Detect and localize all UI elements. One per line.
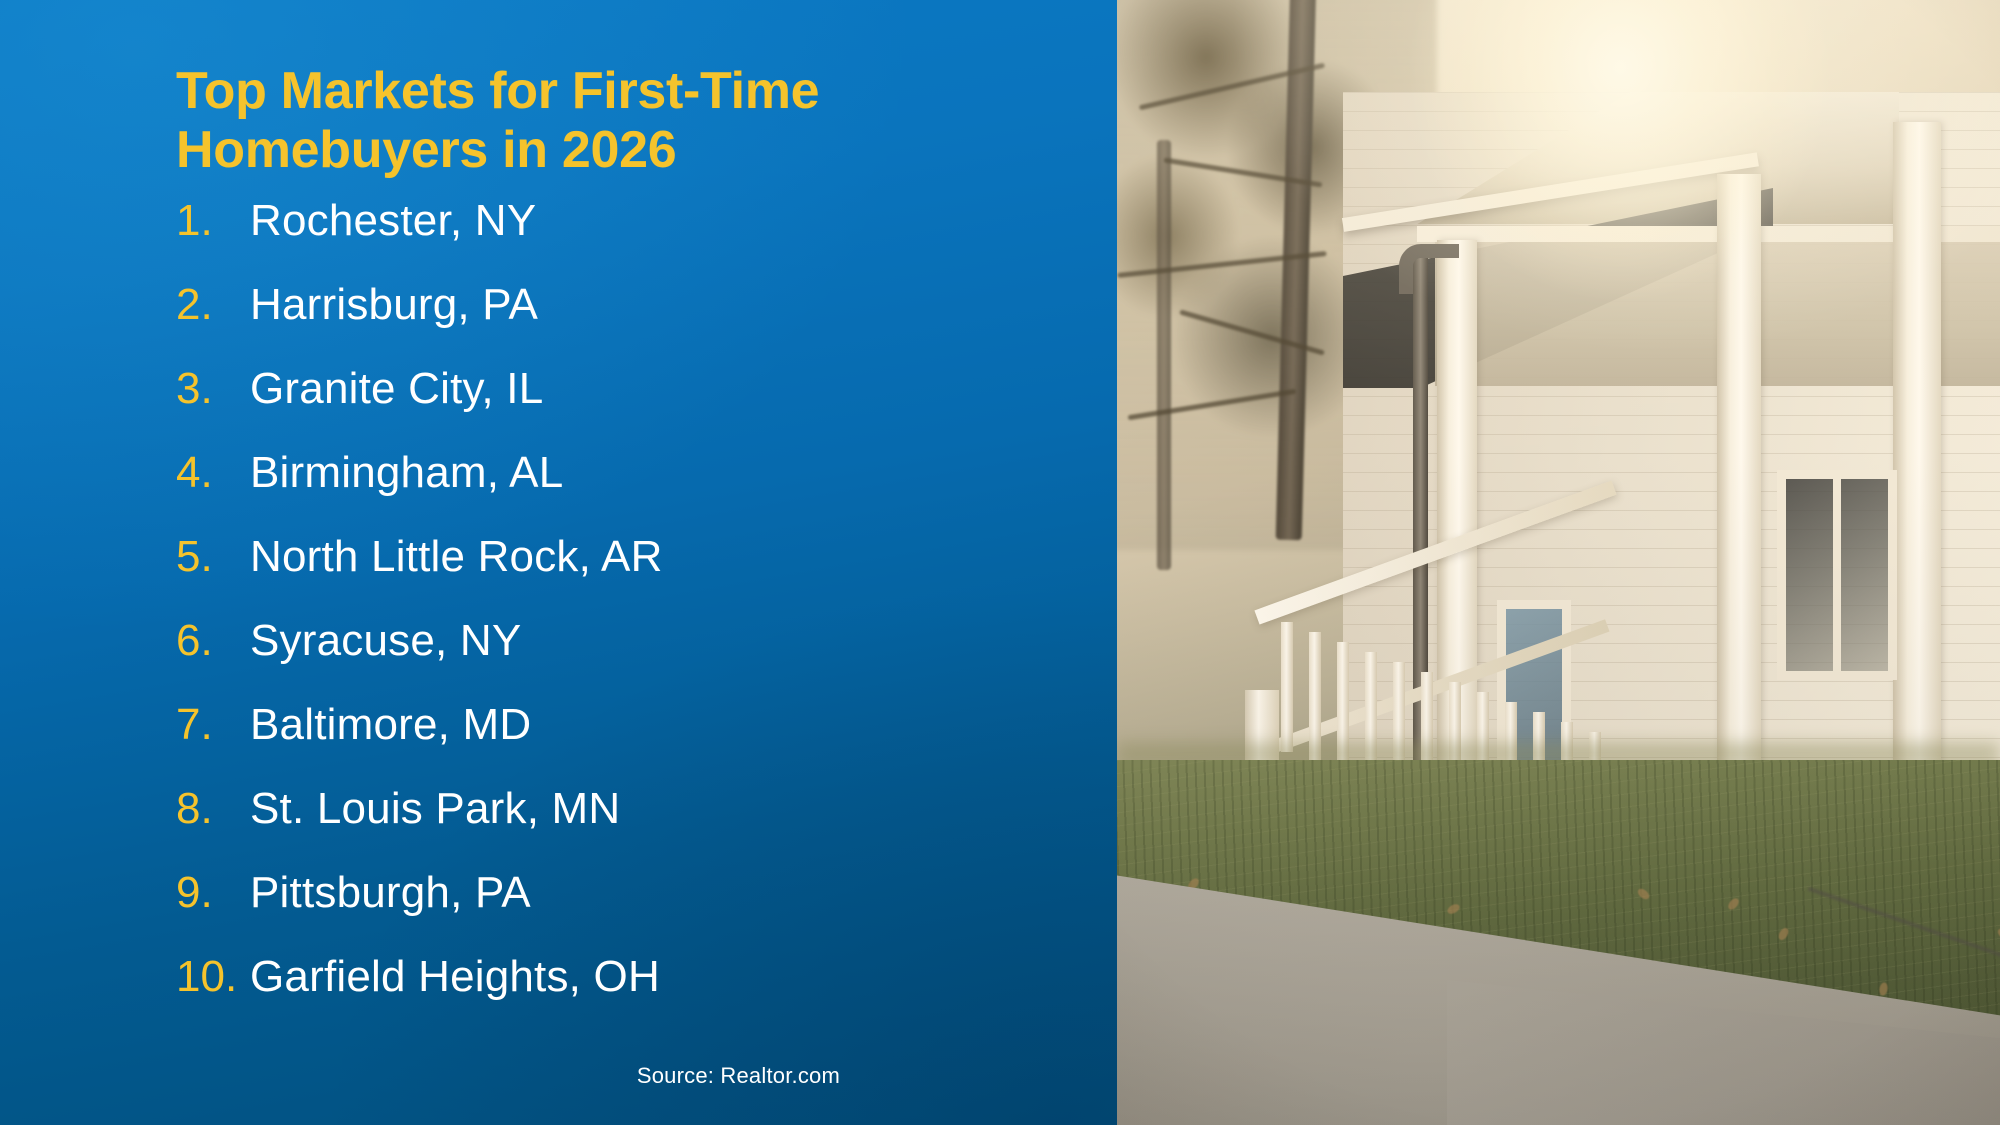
list-item-rank: 5. <box>176 532 250 582</box>
stair-baluster <box>1281 622 1293 752</box>
list-item-rank: 8. <box>176 784 250 834</box>
list-item-city: Syracuse, NY <box>250 616 521 666</box>
info-panel: Top Markets for First-Time Homebuyers in… <box>0 0 1117 1125</box>
list-item: 10. Garfield Heights, OH <box>176 952 1117 1036</box>
list-item-rank: 9. <box>176 868 250 918</box>
list-item-city: Rochester, NY <box>250 196 536 246</box>
panel-content: Top Markets for First-Time Homebuyers in… <box>0 0 1117 1125</box>
list-item-city: St. Louis Park, MN <box>250 784 620 834</box>
list-item-city: Harrisburg, PA <box>250 280 538 330</box>
tree-trunk <box>1157 140 1171 570</box>
infographic-slide: Top Markets for First-Time Homebuyers in… <box>0 0 2000 1125</box>
page-title: Top Markets for First-Time Homebuyers in… <box>176 62 936 180</box>
list-item: 3. Granite City, IL <box>176 364 1117 448</box>
gutter-bend <box>1399 244 1459 294</box>
list-item-city: North Little Rock, AR <box>250 532 663 582</box>
list-item: 1. Rochester, NY <box>176 196 1117 280</box>
list-item-rank: 10. <box>176 952 250 1002</box>
source-attribution: Source: Realtor.com <box>637 1063 840 1089</box>
list-item-rank: 3. <box>176 364 250 414</box>
list-item: 2. Harrisburg, PA <box>176 280 1117 364</box>
list-item: 7. Baltimore, MD <box>176 700 1117 784</box>
list-item: 9. Pittsburgh, PA <box>176 868 1117 952</box>
list-item-rank: 1. <box>176 196 250 246</box>
list-item: 5. North Little Rock, AR <box>176 532 1117 616</box>
list-item-city: Granite City, IL <box>250 364 543 414</box>
lifestyle-photo <box>1117 0 2000 1125</box>
list-item: 8. St. Louis Park, MN <box>176 784 1117 868</box>
stair-baluster <box>1309 632 1321 762</box>
list-item-city: Birmingham, AL <box>250 448 563 498</box>
list-item: 4. Birmingham, AL <box>176 448 1117 532</box>
list-item-rank: 4. <box>176 448 250 498</box>
list-item-city: Garfield Heights, OH <box>250 952 660 1002</box>
list-item-city: Pittsburgh, PA <box>250 868 531 918</box>
list-item: 6. Syracuse, NY <box>176 616 1117 700</box>
list-item-city: Baltimore, MD <box>250 700 531 750</box>
markets-list: 1. Rochester, NY 2. Harrisburg, PA 3. Gr… <box>176 196 1117 1036</box>
list-item-rank: 2. <box>176 280 250 330</box>
list-item-rank: 7. <box>176 700 250 750</box>
list-item-rank: 6. <box>176 616 250 666</box>
window-mullion <box>1833 470 1841 680</box>
